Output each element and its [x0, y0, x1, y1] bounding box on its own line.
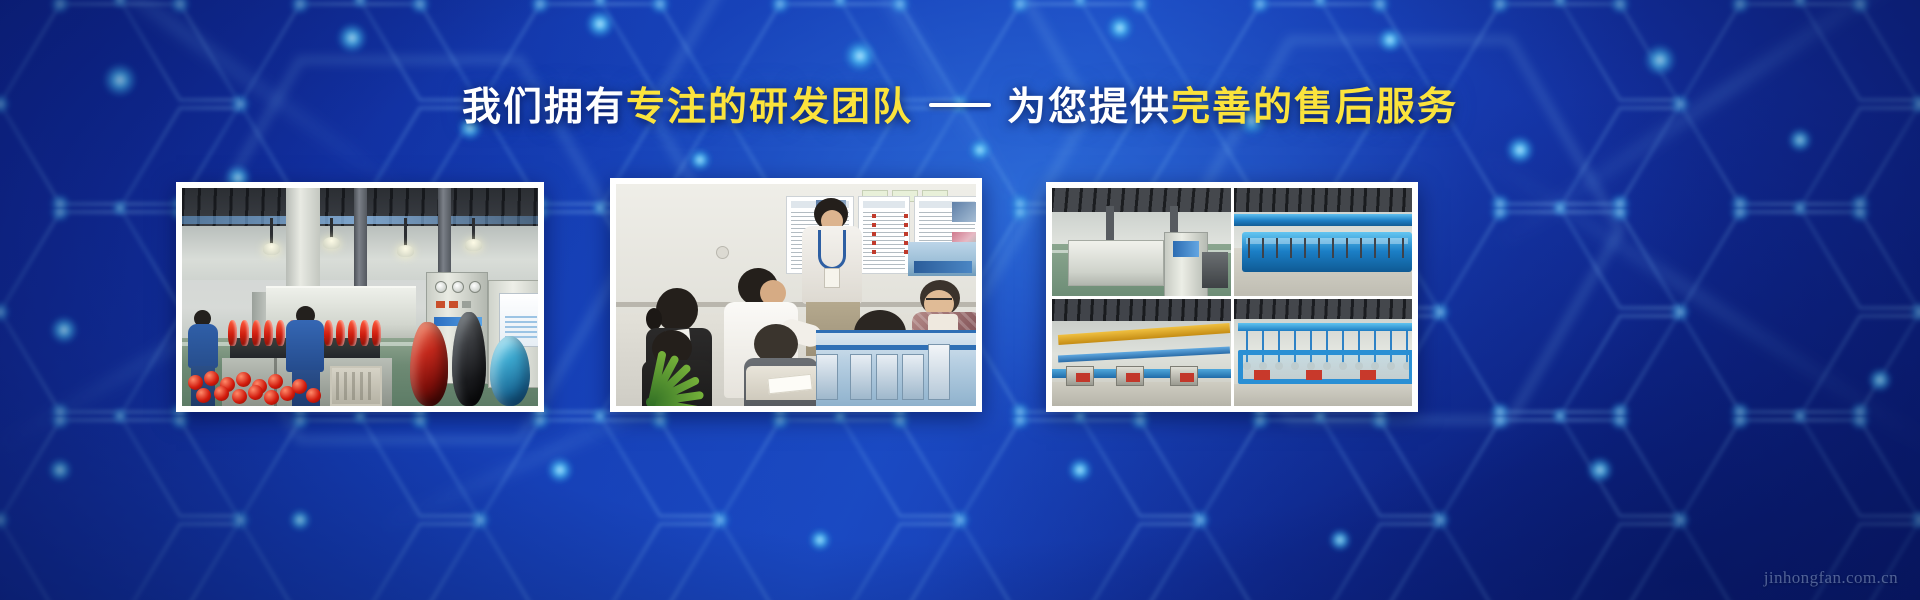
- banner-headline: 我们拥有专注的研发团队为您提供完善的售后服务: [0, 84, 1920, 132]
- site-watermark: jinhongfan.com.cn: [1764, 568, 1898, 588]
- headline-segment-1: 我们拥有: [462, 86, 626, 129]
- glass-vase-overlay: [408, 306, 534, 406]
- rnd-meeting-photo[interactable]: [610, 178, 982, 412]
- headline-divider-dash: [929, 103, 991, 107]
- equipment-collage-photo[interactable]: [1046, 182, 1418, 412]
- production-line-photo[interactable]: [176, 182, 544, 412]
- headline-segment-2: 专注的研发团队: [626, 86, 913, 129]
- headline-segment-3: 为您提供: [1007, 86, 1171, 129]
- headline-segment-4: 完善的售后服务: [1171, 86, 1458, 129]
- promo-banner: 我们拥有专注的研发团队为您提供完善的售后服务: [0, 0, 1920, 600]
